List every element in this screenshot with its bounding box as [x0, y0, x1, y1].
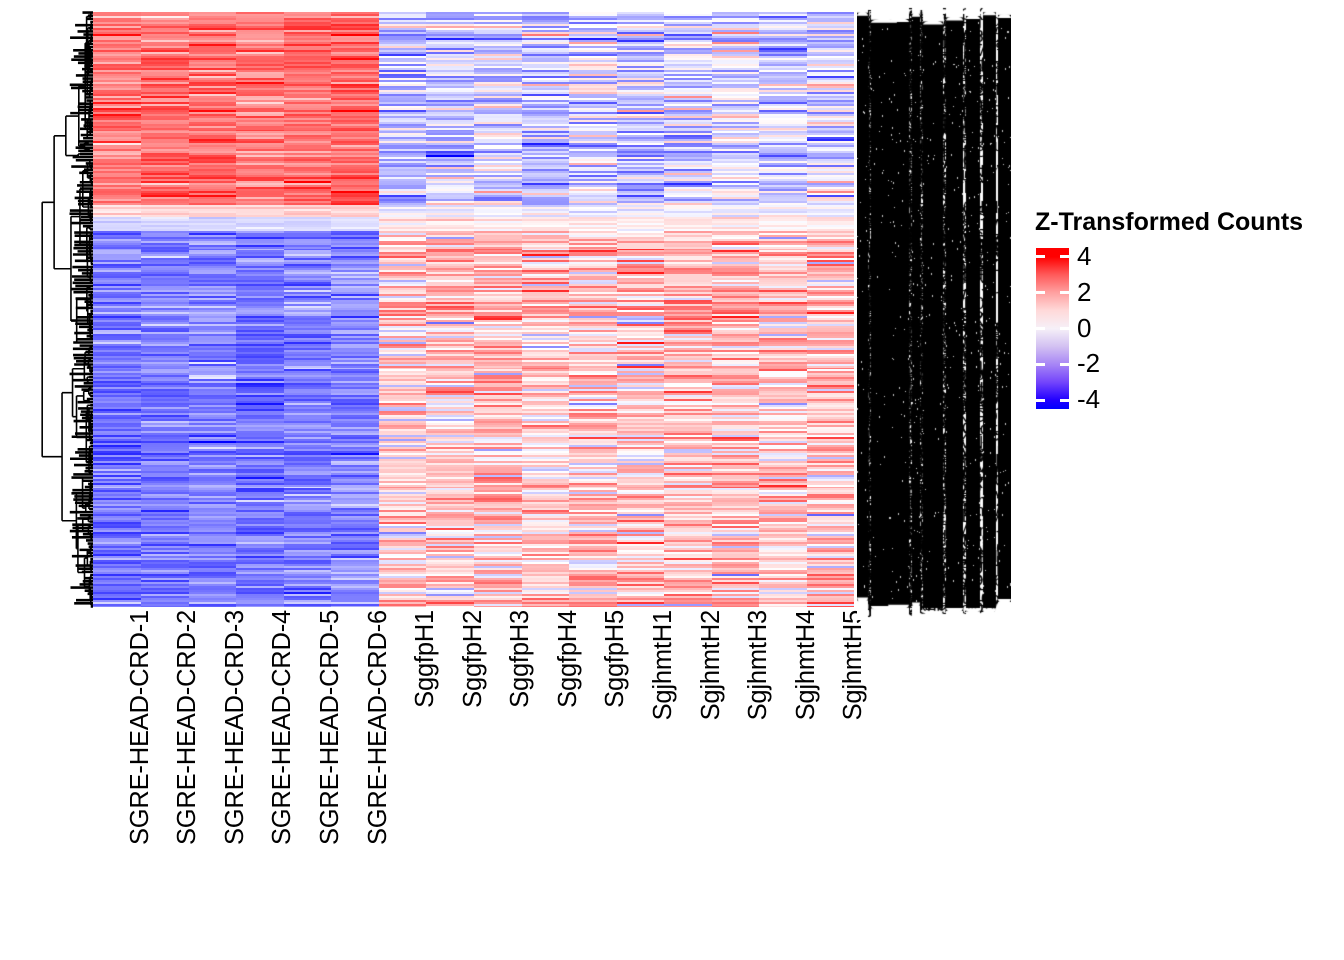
column-label-9: SggfpH4 — [554, 610, 583, 708]
column-label-7: SggfpH2 — [459, 610, 488, 708]
row-dendrogram — [8, 10, 94, 609]
row-dendrogram-svg — [8, 10, 94, 609]
column-label-4: SGRE-HEAD-CRD-5 — [316, 610, 345, 845]
legend-tick-left-1 — [1036, 291, 1045, 294]
legend-tick-label-1: 2 — [1077, 279, 1091, 305]
column-label-15: SgjhmtH5 — [839, 610, 868, 720]
row-labels-canvas — [857, 6, 1011, 620]
legend-tick-left-0 — [1036, 255, 1045, 258]
legend-tick-right-3 — [1060, 363, 1069, 366]
column-label-5: SGRE-HEAD-CRD-6 — [364, 610, 393, 845]
column-label-12: SgjhmtH2 — [697, 610, 726, 720]
column-label-14: SgjhmtH4 — [792, 610, 821, 720]
column-label-8: SggfpH3 — [506, 610, 535, 708]
column-label-2: SGRE-HEAD-CRD-3 — [221, 610, 250, 845]
legend-tick-label-4: -4 — [1077, 386, 1100, 412]
column-labels: SGRE-HEAD-CRD-1SGRE-HEAD-CRD-2SGRE-HEAD-… — [93, 610, 854, 940]
legend-tick-left-3 — [1036, 363, 1045, 366]
legend-tick-right-4 — [1060, 399, 1069, 402]
heatmap-matrix[interactable] — [93, 12, 854, 607]
legend-tick-label-3: -2 — [1077, 350, 1100, 376]
legend-tick-right-2 — [1060, 327, 1069, 330]
legend-tick-left-2 — [1036, 327, 1045, 330]
legend-tick-label-0: 4 — [1077, 243, 1091, 269]
heatmap-canvas[interactable] — [93, 12, 854, 607]
dendrogram-leaves — [70, 13, 94, 607]
legend-tick-label-2: 0 — [1077, 315, 1091, 341]
row-labels-dense — [857, 6, 1011, 620]
legend-tick-right-0 — [1060, 255, 1069, 258]
legend-tick-left-4 — [1036, 399, 1045, 402]
column-label-0: SGRE-HEAD-CRD-1 — [126, 610, 155, 845]
column-label-3: SGRE-HEAD-CRD-4 — [268, 610, 297, 845]
column-label-10: SggfpH5 — [601, 610, 630, 708]
column-label-11: SgjhmtH1 — [649, 610, 678, 720]
legend: Z-Transformed Counts 420-2-4 — [1035, 208, 1335, 418]
column-label-13: SgjhmtH3 — [744, 610, 773, 720]
column-label-6: SggfpH1 — [411, 610, 440, 708]
legend-tick-right-1 — [1060, 291, 1069, 294]
column-label-1: SGRE-HEAD-CRD-2 — [173, 610, 202, 845]
legend-title: Z-Transformed Counts — [1035, 208, 1303, 237]
heatmap-figure: SGRE-HEAD-CRD-1SGRE-HEAD-CRD-2SGRE-HEAD-… — [0, 0, 1344, 960]
